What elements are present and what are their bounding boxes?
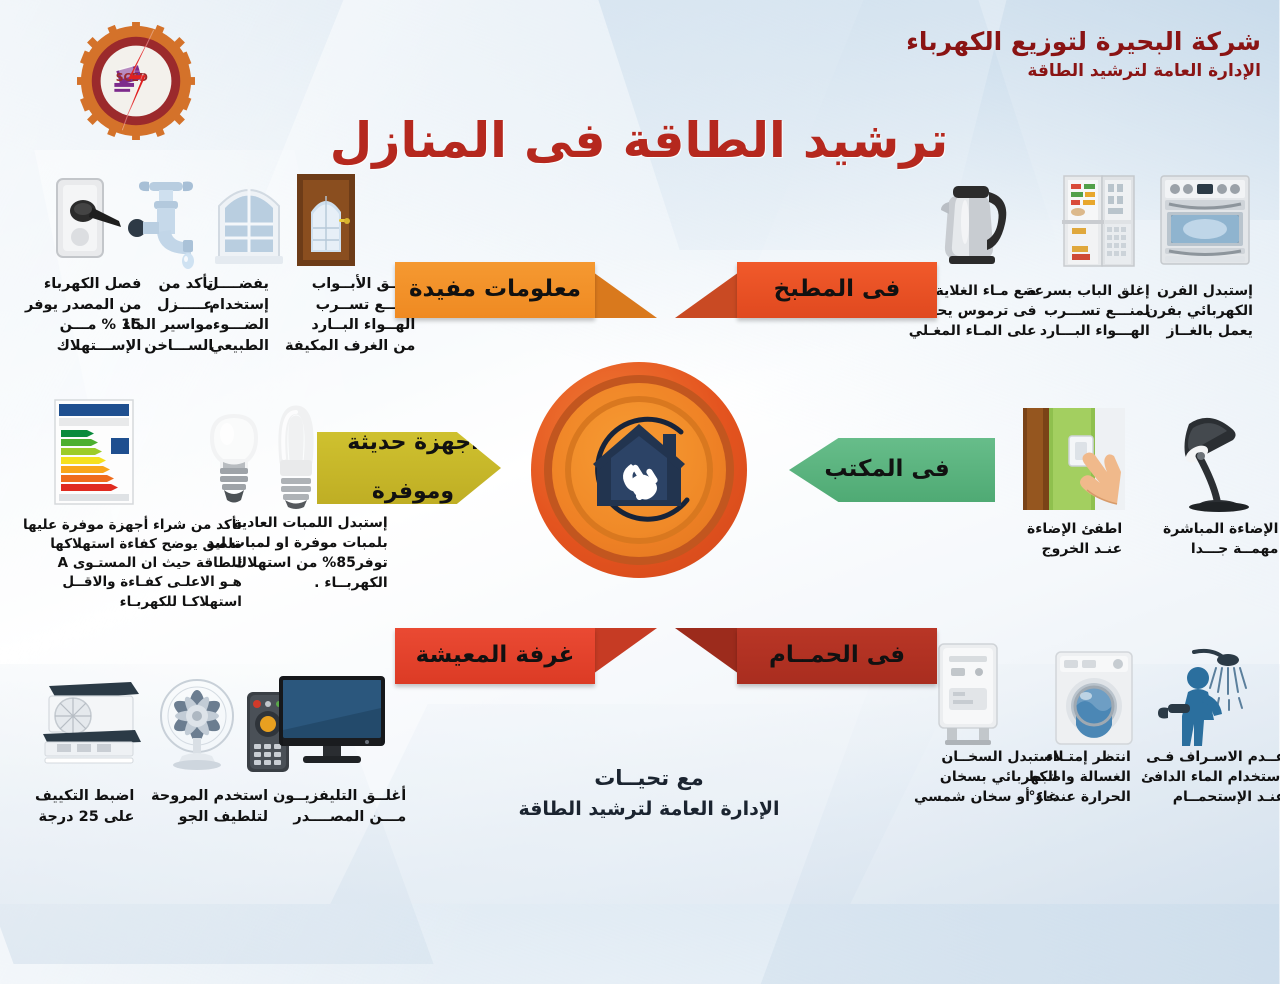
- organization-title: شركة البحيرة لتوزيع الكهرباء الإدارة الع…: [907, 28, 1262, 82]
- banner-office[interactable]: فى المكتب: [790, 438, 996, 502]
- org-title-line1: شركة البحيرة لتوزيع الكهرباء: [907, 28, 1262, 57]
- text-line: غاز أو سخان شمسي: [915, 788, 1059, 808]
- door-icon: [296, 172, 358, 268]
- text-line: عنـد الخروج: [1028, 540, 1123, 560]
- text-column-natural-light: يفضــــل إستخدام الضـــوء الطبيعي: [207, 274, 270, 356]
- television-icon: [278, 674, 388, 770]
- banner-label: فى المطبخ: [765, 277, 912, 303]
- air-conditioner-icon: [36, 678, 146, 770]
- text-line: إغلق الباب بسرعة: [1027, 282, 1151, 302]
- text-column-solar-heater: استبدل السخــان الكهربائي بسخان غاز أو س…: [915, 748, 1059, 808]
- text-line: استخدام الماء الدافئ: [1142, 768, 1280, 788]
- text-line: عنـد الإستحمــام: [1142, 788, 1280, 808]
- banner-label-line1: أجهزة حديثة: [338, 431, 489, 456]
- text-line: استخدم المروحة: [152, 786, 269, 807]
- footer-line1: مع تحيــات: [460, 766, 840, 790]
- footer: مع تحيــات الإدارة العامة لترشيد الطاقة: [460, 766, 840, 820]
- banner-modern-devices[interactable]: أجهزة حديثة وموفرة: [318, 432, 502, 504]
- text-line: الكهربائي بسخان: [915, 768, 1059, 788]
- led-bulb-icon: [204, 410, 266, 506]
- text-line: بلمبات موفرة او لمبات ليد: [208, 534, 389, 554]
- cfl-bulb-icon: [268, 402, 326, 508]
- text-line: إستخدام: [207, 295, 270, 316]
- text-column-ac-temperature: اضبط التكييف على 25 درجة: [36, 786, 135, 827]
- banner-label: فى المكتب: [815, 457, 960, 483]
- light-switch-hand-icon: [1022, 408, 1126, 510]
- banner-living-room[interactable]: غرفة المعيشة: [396, 628, 596, 684]
- text-line: عــدم الاسـراف فـى: [1142, 748, 1280, 768]
- water-faucet-icon: [120, 178, 212, 268]
- text-line: الكهربائي بفرن: [1147, 302, 1254, 322]
- text-line: مهمــة جـــدا: [1164, 540, 1279, 560]
- text-line: استهلاكـا للكهربـاء: [24, 593, 243, 612]
- text-line: الكهربــاء .: [208, 574, 389, 594]
- text-line: 15 % مـــن: [26, 315, 142, 336]
- text-line: إستبدل اللمبات العادية: [208, 514, 389, 534]
- text-line: مـــن المصــــدر: [274, 807, 407, 828]
- washing-machine-icon: [1053, 650, 1137, 746]
- electric-kettle-icon: [936, 172, 1018, 268]
- text-line: توفر85% من استهلاك: [208, 554, 389, 574]
- page-title: ترشيد الطاقة فى المنازل: [0, 112, 1280, 169]
- text-column-unplug-source: فصل الكهرباء من المصدر يوفر 15 % مـــن ا…: [26, 274, 142, 356]
- text-line: على 25 درجة: [36, 807, 135, 828]
- desk-lamp-icon: [1162, 410, 1260, 512]
- text-line: لمنـــع تســـرب: [1027, 302, 1151, 322]
- text-line: فصل الكهرباء: [26, 274, 142, 295]
- window-icon: [214, 176, 286, 268]
- text-line: اطفئ الإضاءة: [1028, 520, 1123, 540]
- text-line: الإســـتهلاك: [26, 336, 142, 357]
- banner-label-line2: وموفرة: [338, 480, 489, 505]
- banner-useful-info[interactable]: معلومات مفيدة: [396, 262, 596, 318]
- text-line: يعمل بالغــاز: [1147, 322, 1254, 342]
- text-line: إستبدل الفرن: [1147, 282, 1254, 302]
- refrigerator-icon: [1055, 172, 1143, 270]
- banner-bathroom[interactable]: فى الحمــام: [738, 628, 938, 684]
- text-column-gas-oven: إستبدل الفرن الكهربائي بفرن يعمل بالغــا…: [1147, 282, 1254, 342]
- text-column-tv-off-source: أغلــق التليفزيــون مـــن المصــــدر: [274, 786, 407, 827]
- text-line: الهــواء البــارد: [286, 315, 416, 336]
- text-line: أغلــق التليفزيــون: [274, 786, 407, 807]
- org-title-line2: الإدارة العامة لترشيد الطاقة: [907, 60, 1262, 82]
- banner-label: أجهزة حديثة وموفرة: [328, 431, 499, 505]
- banner-label: معلومات مفيدة: [400, 277, 592, 303]
- text-column-close-fridge-door: إغلق الباب بسرعة لمنـــع تســـرب الهـــو…: [1027, 282, 1151, 342]
- central-hub: [532, 362, 748, 578]
- text-line: لتلطيف الجو: [152, 807, 269, 828]
- shower-person-icon: [1155, 648, 1261, 748]
- text-line: اضبط التكييف: [36, 786, 135, 807]
- text-line: من الغرف المكيفة: [286, 336, 416, 357]
- text-column-direct-lighting: الإضاءة المباشرة مهمــة جـــدا: [1164, 520, 1279, 560]
- text-line: الضـــوء: [207, 315, 270, 336]
- text-line: على المـاء المغـلي: [909, 322, 1038, 342]
- text-column-switch-off-exit: اطفئ الإضاءة عنـد الخروج: [1028, 520, 1123, 560]
- text-line: يفضــــل: [207, 274, 270, 295]
- water-heater-icon: [932, 640, 1006, 746]
- text-column-avoid-hot-water-waste: عــدم الاسـراف فـى استخدام الماء الدافئ …: [1142, 748, 1280, 808]
- text-line: الطبيعي: [207, 336, 270, 357]
- text-line: الإضاءة المباشرة: [1164, 520, 1279, 540]
- text-line: من المصدر يوفر: [26, 295, 142, 316]
- banner-kitchen[interactable]: فى المطبخ: [738, 262, 938, 318]
- electric-fan-icon: [155, 676, 241, 772]
- house-with-plug-icon: [572, 402, 708, 538]
- banner-label: فى الحمــام: [760, 643, 916, 669]
- energy-label-icon: [52, 398, 138, 506]
- text-column-led-lamps: إستبدل اللمبات العادية بلمبات موفرة او ل…: [208, 514, 389, 594]
- plug-socket-icon: [44, 175, 126, 263]
- text-line: الهـــواء البـــارد: [1027, 322, 1151, 342]
- footer-line2: الإدارة العامة لترشيد الطاقة: [460, 798, 840, 820]
- banner-label: غرفة المعيشة: [407, 643, 586, 669]
- text-line: استبدل السخــان: [915, 748, 1059, 768]
- oven-icon: [1158, 172, 1254, 268]
- text-column-use-fan: استخدم المروحة لتلطيف الجو: [152, 786, 269, 827]
